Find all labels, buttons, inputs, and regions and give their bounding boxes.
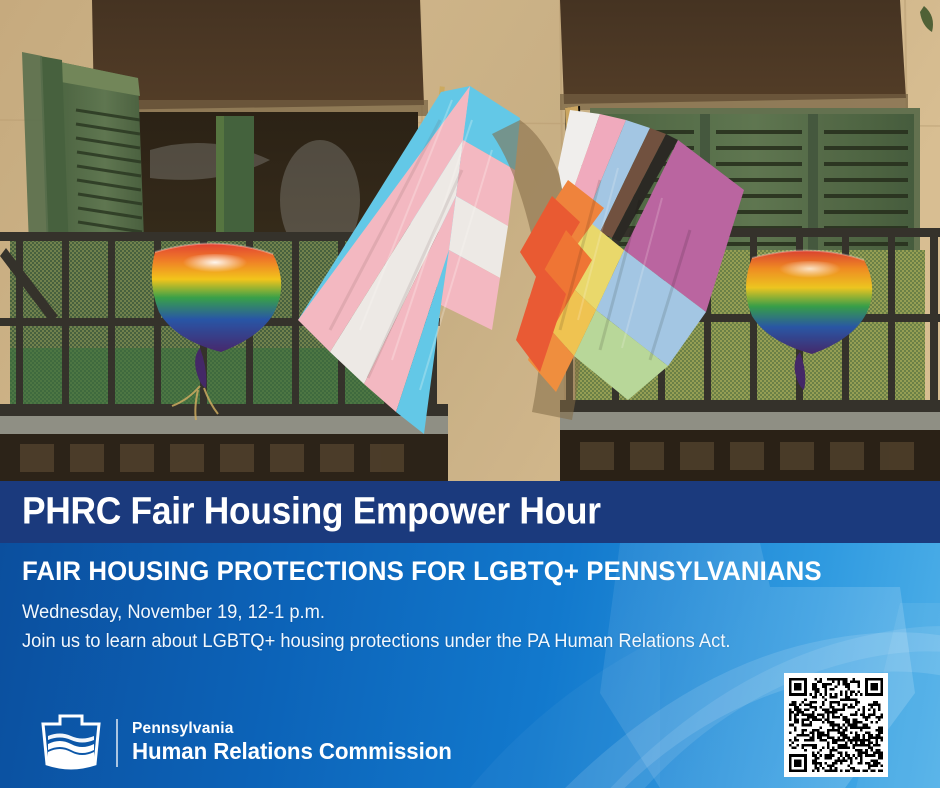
- event-date-text: Wednesday, November 19, 12-1 p.m.: [22, 602, 325, 624]
- logo-state-label: Pennsylvania: [132, 721, 462, 738]
- page-subtitle-text: FAIR HOUSING PROTECTIONS FOR LGBTQ+ PENN…: [22, 556, 822, 587]
- event-description-text: Join us to learn about LGBTQ+ housing pr…: [22, 631, 731, 653]
- logo-text: Pennsylvania Human Relations Commission: [132, 721, 462, 764]
- page-title: PHRC Fair Housing Empower Hour: [22, 491, 644, 534]
- event-poster: PHRC Fair Housing Empower Hour FAIR HOUS…: [0, 0, 940, 788]
- logo-state-text: Pennsylvania: [132, 721, 234, 738]
- page-subtitle: FAIR HOUSING PROTECTIONS FOR LGBTQ+ PENN…: [22, 556, 859, 587]
- hero-photo: [0, 0, 940, 481]
- phrc-logo: Pennsylvania Human Relations Commission: [40, 714, 462, 772]
- pa-keystone-icon: [40, 714, 102, 772]
- qr-code-icon[interactable]: [789, 678, 883, 772]
- event-description-line: Join us to learn about LGBTQ+ housing pr…: [22, 631, 756, 653]
- logo-agency-text: Human Relations Commission: [132, 738, 452, 764]
- qr-code[interactable]: [784, 673, 888, 777]
- title-band: PHRC Fair Housing Empower Hour: [0, 481, 940, 543]
- logo-agency-label: Human Relations Commission: [132, 738, 462, 764]
- event-date-line: Wednesday, November 19, 12-1 p.m.: [22, 602, 336, 624]
- logo-divider: [116, 719, 118, 767]
- page-title-text: PHRC Fair Housing Empower Hour: [22, 491, 601, 534]
